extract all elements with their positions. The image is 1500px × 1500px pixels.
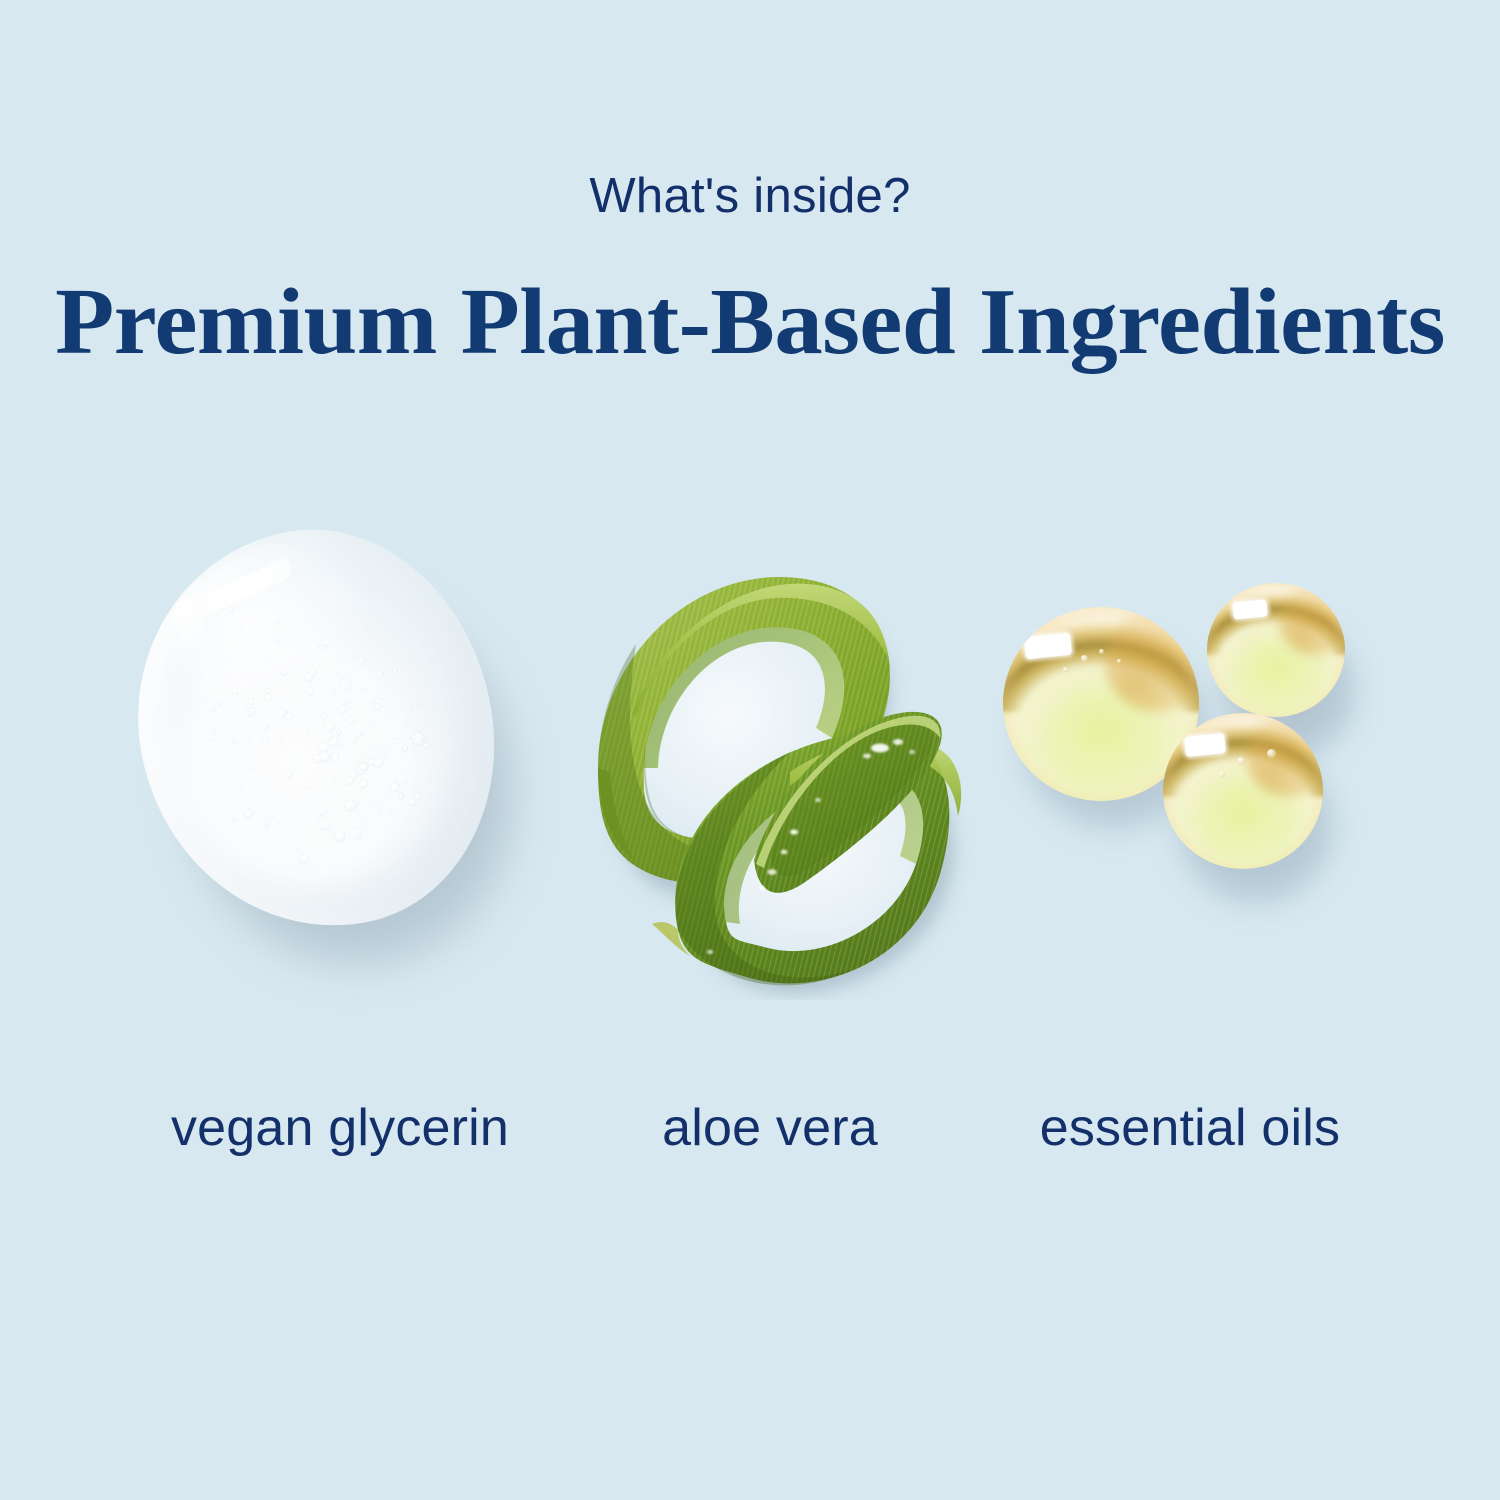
gel-bubble [366, 828, 368, 830]
caption-essential-oils: essential oils [960, 1098, 1420, 1158]
gel-bubble [276, 824, 279, 827]
gel-bubble [327, 789, 331, 793]
gel-bubble [207, 669, 209, 671]
gel-bubble [188, 707, 191, 710]
gel-bubble [198, 717, 201, 720]
gel-bubble [374, 759, 383, 768]
gel-bubble [181, 670, 185, 674]
gel-bubble [237, 766, 241, 770]
gel-bubble [430, 750, 433, 753]
gel-bubble [390, 783, 399, 792]
gel-bubble [265, 694, 272, 701]
gel-bubble [371, 723, 373, 725]
gel-bubble [360, 686, 363, 689]
gel-bubble [348, 717, 355, 724]
gel-bubble [289, 785, 291, 787]
gel-bubble [355, 807, 358, 810]
gel-bubble [338, 746, 340, 748]
caption-vegan-glycerin: vegan glycerin [60, 1098, 620, 1158]
gel-bubble [360, 763, 367, 770]
gel-bubble [196, 673, 200, 677]
gel-bubble [269, 756, 272, 759]
gel-bubble [381, 751, 385, 755]
gel-bubble [279, 671, 281, 673]
gel-bubble [335, 832, 344, 841]
gel-bubble [354, 740, 356, 742]
gel-bubble [305, 673, 313, 681]
gel-bubble [240, 715, 243, 718]
gel-bubble [340, 769, 343, 772]
gel-bubble [307, 859, 311, 863]
gel-bubble [319, 818, 331, 830]
gel-bubble [419, 727, 421, 729]
gel-bubble [282, 668, 288, 674]
gel-bubble [373, 746, 377, 750]
gel-bubble [324, 659, 327, 662]
aloe-peel-svg [540, 500, 970, 1000]
gel-bubble [388, 796, 391, 799]
essential-oils-image [975, 555, 1405, 925]
gel-bubble [282, 677, 286, 681]
gel-bubble [414, 748, 418, 752]
page-title: Premium Plant-Based Ingredients [0, 268, 1500, 376]
gel-bubble [212, 730, 215, 733]
gel-bubble [296, 846, 300, 850]
gel-bubble [332, 713, 334, 715]
gel-bubble [331, 690, 334, 693]
gel-bubble [261, 664, 265, 668]
gel-bubble [321, 714, 325, 718]
gel-bubble [411, 784, 414, 787]
gel-bubble [424, 695, 427, 698]
gel-bubble [248, 699, 253, 704]
gel-bubble [256, 723, 258, 725]
gel-bubble [318, 742, 328, 752]
gel-bubble [325, 722, 334, 731]
gel-bubble [231, 743, 234, 746]
gel-bubble [219, 702, 222, 705]
gel-bubble [233, 694, 237, 698]
gel-bubble [280, 623, 283, 626]
gel-bubble [423, 722, 426, 725]
gel-bubble-cluster [110, 500, 530, 970]
gel-bubble [304, 783, 310, 789]
gel-bubble [332, 775, 336, 779]
gel-bubble [284, 633, 286, 635]
gel-bubble [276, 809, 280, 813]
gel-bubble [411, 788, 415, 792]
gel-bubble [381, 703, 384, 706]
gel-bubble [360, 780, 367, 787]
gel-bubble [349, 700, 351, 702]
gel-bubble [256, 674, 260, 678]
gel-bubble [255, 682, 258, 685]
gel-bubble [335, 643, 338, 646]
gel-bubble [278, 739, 282, 743]
gel-bubble [362, 750, 366, 754]
gel-bubble [288, 626, 292, 630]
gel-bubble [410, 800, 416, 806]
gel-bubble [261, 697, 263, 699]
gel-bubble [314, 755, 322, 763]
gel-bubble [244, 672, 247, 675]
gel-bubble [262, 740, 264, 742]
gel-bubble [263, 729, 267, 733]
droplet-micro-bubble [1219, 771, 1225, 777]
gel-bubble [424, 743, 429, 748]
gel-bubble [346, 777, 354, 785]
gel-bubble [429, 809, 432, 812]
gel-bubble [243, 610, 247, 614]
gel-bubble [256, 757, 260, 761]
gel-bubble [342, 699, 347, 704]
gel-bubble [211, 709, 214, 712]
gel-bubble [323, 646, 325, 648]
gel-bubble [324, 639, 331, 646]
gel-bubble [345, 800, 355, 810]
gel-bubble [272, 598, 277, 603]
gel-bubble [345, 639, 347, 641]
gel-bubble [219, 764, 221, 766]
gel-bubble [333, 784, 336, 787]
gel-bubble [404, 723, 407, 726]
gel-bubble [288, 825, 290, 827]
gel-bubble [293, 728, 298, 733]
gel-bubble [266, 714, 271, 719]
gel-bubble [374, 704, 380, 710]
gel-bubble [231, 684, 233, 686]
droplet-micro-bubble [1081, 655, 1088, 662]
gel-bubble [207, 647, 212, 652]
eyebrow-text: What's inside? [0, 168, 1500, 224]
gel-bubble [254, 629, 259, 634]
gel-bubble [336, 656, 338, 658]
gel-bubble [396, 774, 407, 785]
aloe-vera-image [540, 500, 970, 1000]
gel-bubble [403, 746, 408, 751]
gel-bubble [386, 799, 388, 801]
droplet-micro-bubble [1063, 667, 1068, 672]
gel-bubble [294, 702, 298, 706]
gel-bubble [286, 728, 291, 733]
gel-bubble [307, 688, 314, 695]
gel-bubble [233, 818, 236, 821]
gel-bubble [299, 797, 302, 800]
gel-bubble [397, 701, 402, 706]
gel-bubble [329, 737, 339, 747]
gel-bubble [263, 723, 269, 729]
ingredients-infographic: What's inside? Premium Plant-Based Ingre… [0, 0, 1500, 1500]
gel-bubble [355, 732, 361, 738]
gel-bubble [350, 828, 361, 839]
gel-bubble [335, 774, 338, 777]
gel-bubble [228, 607, 233, 612]
gel-bubble [389, 710, 394, 715]
gel-bubble [418, 705, 421, 708]
gel-bubble [269, 867, 271, 869]
gel-bubble [241, 747, 245, 751]
gel-bubble [339, 705, 347, 713]
droplet-micro-bubble [1237, 757, 1245, 765]
gel-bubble [333, 673, 337, 677]
gel-bubble [265, 653, 270, 658]
gel-bubble [260, 794, 263, 797]
gel-bubble [286, 771, 292, 777]
gel-bubble [273, 772, 278, 777]
gel-bubble [213, 782, 216, 785]
oil-droplet-top-right [1207, 583, 1345, 717]
gel-bubble [289, 674, 294, 679]
gel-bubble [270, 813, 274, 817]
gel-bubble [244, 702, 248, 706]
gel-bubble [245, 810, 253, 818]
gel-bubble [413, 704, 417, 708]
gel-bubble [358, 658, 365, 665]
gel-bubble [265, 807, 269, 811]
gel-bubble [278, 831, 282, 835]
gel-bubble [275, 745, 277, 747]
gel-bubble [261, 677, 270, 686]
gel-bubble [337, 730, 342, 735]
gel-bubble [399, 794, 404, 799]
gel-bubble [359, 813, 362, 816]
gel-bubble [233, 739, 237, 743]
gel-bubble [332, 754, 339, 761]
gel-bubble [341, 680, 351, 690]
gel-bubble [376, 671, 383, 678]
gel-bubble [379, 694, 384, 699]
gel-bubble [249, 766, 253, 770]
gel-bubble [393, 668, 397, 672]
gel-bubble [291, 698, 293, 700]
gel-bubble [377, 804, 383, 810]
gel-bubble [391, 812, 395, 816]
gel-bubble [202, 735, 205, 738]
gel-bubble [427, 780, 431, 784]
gel-bubble [355, 656, 358, 659]
gel-bubble [276, 641, 279, 644]
gel-bubble [371, 804, 374, 807]
gel-bubble [376, 810, 381, 815]
gel-bubble [221, 631, 223, 633]
gel-bubble [394, 732, 401, 739]
gel-bubble [232, 688, 238, 694]
gel-bubble [266, 689, 270, 693]
vegan-glycerin-image [110, 500, 530, 970]
gel-bubble [269, 658, 274, 663]
gel-bubble [334, 619, 339, 624]
gel-bubble [294, 687, 299, 692]
gel-bubble [390, 742, 392, 744]
gel-bubble [238, 627, 241, 630]
droplet-micro-bubble [1267, 749, 1276, 758]
gel-bubble [266, 826, 269, 829]
gel-bubble [279, 749, 282, 752]
droplet-highlight [1232, 599, 1268, 619]
gel-bubble [317, 645, 319, 647]
gel-bubble [285, 816, 288, 819]
gel-bubble [240, 787, 242, 789]
gel-bubble [227, 697, 231, 701]
droplet-micro-bubble [1099, 649, 1104, 654]
gel-bubble [302, 729, 309, 736]
droplet-micro-bubble [1117, 659, 1121, 663]
gel-bubble [248, 739, 251, 742]
gel-bubble [216, 646, 219, 649]
gel-bubble [224, 696, 226, 698]
gel-bubble [305, 744, 307, 746]
gel-bubble [412, 735, 416, 739]
gel-bubble [415, 794, 421, 800]
gel-bubble [209, 735, 214, 740]
gel-bubble [357, 754, 360, 757]
oil-droplet-bottom [1163, 713, 1323, 869]
droplet-highlight [1184, 733, 1226, 757]
gel-bubble [401, 680, 403, 682]
gel-bubble [300, 655, 304, 659]
gel-bubble [281, 768, 284, 771]
caption-aloe-vera: aloe vera [560, 1098, 980, 1158]
droplet-rim [1207, 583, 1345, 717]
gel-bubble [276, 621, 278, 623]
